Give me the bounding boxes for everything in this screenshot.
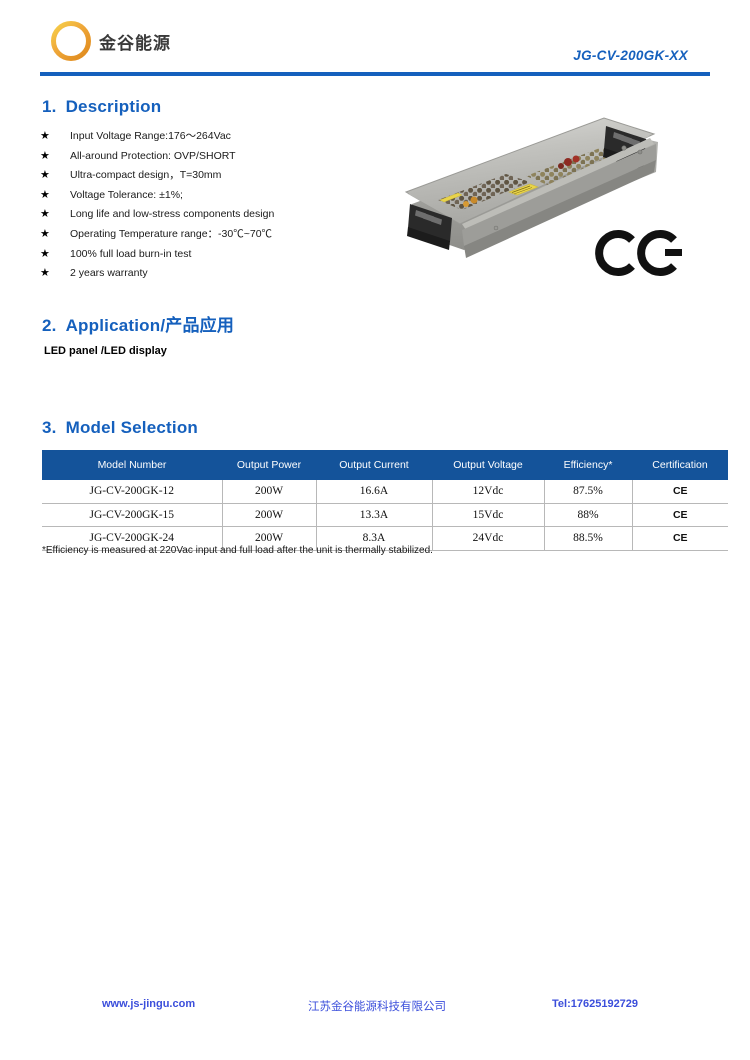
section-title: Description [66, 97, 162, 116]
jg-circular-logo-icon [50, 20, 92, 62]
star-bullet-icon: ★ [40, 165, 70, 185]
star-bullet-icon: ★ [40, 244, 70, 264]
star-bullet-icon: ★ [40, 263, 70, 283]
list-item: ★ Operating Temperature range：-30℃~70℃ [40, 224, 370, 244]
model-selection-table: Model Number Output Power Output Current… [42, 450, 688, 551]
cell-output-power: 200W [222, 503, 316, 527]
page-footer: www.js-jingu.com 江苏金谷能源科技有限公司 Tel:176251… [40, 998, 710, 1020]
brand-logo: 金谷能源 [50, 20, 171, 62]
list-item-label: 2 years warranty [70, 264, 148, 284]
star-bullet-icon: ★ [40, 224, 70, 244]
list-item-label: Ultra-compact design，T=30mm [70, 166, 221, 186]
cell-output-voltage: 15Vdc [432, 503, 544, 527]
table-footnote: *Efficiency is measured at 220Vac input … [42, 545, 433, 556]
section-number: 3. [42, 418, 57, 437]
footer-website-link[interactable]: www.js-jingu.com [102, 998, 195, 1010]
footer-company-name: 江苏金谷能源科技有限公司 [308, 998, 446, 1014]
cell-output-voltage: 12Vdc [432, 480, 544, 503]
column-header-model-number: Model Number [42, 450, 222, 480]
list-item: ★ 2 years warranty [40, 263, 370, 283]
list-item-label: Input Voltage Range:176～264Vac [70, 127, 231, 147]
table-row: JG-CV-200GK-12 200W 16.6A 12Vdc 87.5% CE [42, 480, 728, 503]
cell-certification: CE [632, 527, 728, 551]
application-body: LED panel /LED display [44, 345, 167, 357]
cell-certification: CE [632, 480, 728, 503]
column-header-output-power: Output Power [222, 450, 316, 480]
footer-telephone: Tel:17625192729 [552, 998, 638, 1010]
cell-model-number: JG-CV-200GK-15 [42, 503, 222, 527]
section-heading-model-selection: 3.Model Selection [42, 418, 198, 438]
section-number: 1. [42, 97, 57, 116]
cell-output-voltage: 24Vdc [432, 527, 544, 551]
table-row: JG-CV-200GK-15 200W 13.3A 15Vdc 88% CE [42, 503, 728, 527]
section-title: Application/产品应用 [66, 316, 234, 335]
ce-mark-icon [599, 234, 674, 272]
list-item: ★ Long life and low-stress components de… [40, 204, 370, 224]
section-heading-application: 2.Application/产品应用 [42, 311, 234, 336]
star-bullet-icon: ★ [40, 204, 70, 224]
cell-certification: CE [632, 503, 728, 527]
list-item-label: Long life and low-stress components desi… [70, 205, 274, 225]
cell-output-current: 16.6A [316, 480, 432, 503]
column-header-efficiency: Efficiency* [544, 450, 632, 480]
table-header-row: Model Number Output Power Output Current… [42, 450, 728, 480]
list-item: ★ Ultra-compact design，T=30mm [40, 165, 370, 185]
cell-output-power: 200W [222, 480, 316, 503]
list-item-label: Voltage Tolerance: ±1%; [70, 186, 183, 206]
list-item-label: 100% full load burn-in test [70, 245, 191, 265]
cell-model-number: JG-CV-200GK-12 [42, 480, 222, 503]
list-item-label: All-around Protection: OVP/SHORT [70, 147, 236, 167]
list-item: ★ Input Voltage Range:176～264Vac [40, 126, 370, 146]
column-header-output-voltage: Output Voltage [432, 450, 544, 480]
cell-efficiency: 87.5% [544, 480, 632, 503]
description-list: ★ Input Voltage Range:176～264Vac ★ All-a… [40, 126, 370, 283]
cell-efficiency: 88% [544, 503, 632, 527]
star-bullet-icon: ★ [40, 146, 70, 166]
brand-name-cn: 金谷能源 [99, 29, 171, 54]
star-bullet-icon: ★ [40, 185, 70, 205]
datasheet-page: 金谷能源 JG-CV-200GK-XX 1.Description ★ Inpu… [0, 0, 750, 1060]
section-title: Model Selection [66, 418, 198, 437]
list-item: ★ 100% full load burn-in test [40, 244, 370, 264]
list-item: ★ Voltage Tolerance: ±1%; [40, 185, 370, 205]
header-divider [40, 72, 710, 76]
header-model-code: JG-CV-200GK-XX [573, 48, 688, 63]
product-image [378, 100, 690, 292]
list-item-label: Operating Temperature range：-30℃~70℃ [70, 225, 272, 245]
section-heading-description: 1.Description [42, 97, 161, 117]
section-number: 2. [42, 316, 57, 335]
list-item: ★ All-around Protection: OVP/SHORT [40, 146, 370, 166]
page-header: 金谷能源 JG-CV-200GK-XX [40, 18, 710, 80]
cell-efficiency: 88.5% [544, 527, 632, 551]
column-header-output-current: Output Current [316, 450, 432, 480]
column-header-certification: Certification [632, 450, 728, 480]
cell-output-current: 13.3A [316, 503, 432, 527]
star-bullet-icon: ★ [40, 126, 70, 146]
